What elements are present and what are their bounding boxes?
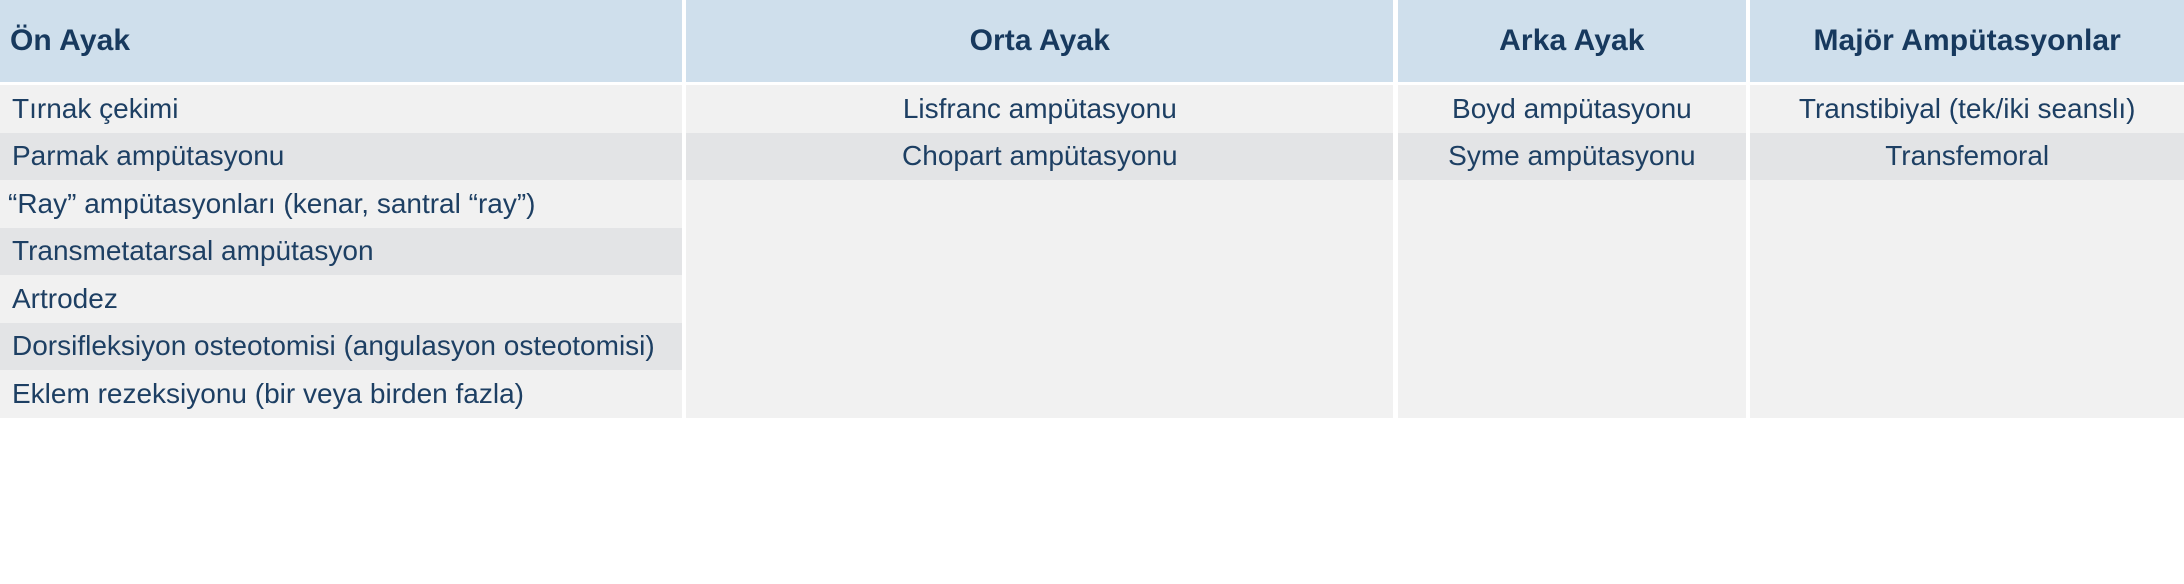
cell-orta-ayak: Chopart ampütasyonu [686,133,1393,181]
cell-major [1750,370,2184,418]
cell-orta-ayak [686,228,1393,276]
diabetic-foot-procedures-table-container: Ön Ayak Orta Ayak Arka Ayak Majör Ampüta… [0,0,2184,584]
cell-arka-ayak [1398,180,1746,228]
cell-major [1750,180,2184,228]
cell-arka-ayak [1398,370,1746,418]
cell-arka-ayak [1398,228,1746,276]
cell-major [1750,228,2184,276]
cell-major [1750,323,2184,371]
table-row: Artrodez [0,275,2184,323]
cell-major: Transtibiyal (tek/iki seanslı) [1750,82,2184,133]
cell-arka-ayak [1398,323,1746,371]
cell-arka-ayak: Boyd ampütasyonu [1398,82,1746,133]
cell-on-ayak: Artrodez [0,275,682,323]
column-header-major-amputasyonlar: Majör Ampütasyonlar [1750,0,2184,82]
cell-on-ayak: Dorsifleksiyon osteotomisi (angulasyon o… [0,323,682,371]
cell-on-ayak: Eklem rezeksiyonu (bir veya birden fazla… [0,370,682,418]
table-header: Ön Ayak Orta Ayak Arka Ayak Majör Ampüta… [0,0,2184,82]
table-header-row: Ön Ayak Orta Ayak Arka Ayak Majör Ampüta… [0,0,2184,82]
column-header-orta-ayak: Orta Ayak [686,0,1393,82]
table-row: Transmetatarsal ampütasyon [0,228,2184,276]
diabetic-foot-procedures-table: Ön Ayak Orta Ayak Arka Ayak Majör Ampüta… [0,0,2184,418]
cell-orta-ayak [686,275,1393,323]
cell-on-ayak: Transmetatarsal ampütasyon [0,228,682,276]
cell-orta-ayak [686,370,1393,418]
column-header-arka-ayak: Arka Ayak [1398,0,1746,82]
cell-on-ayak: Tırnak çekimi [0,82,682,133]
cell-major: Transfemoral [1750,133,2184,181]
cell-arka-ayak: Syme ampütasyonu [1398,133,1746,181]
cell-arka-ayak [1398,275,1746,323]
cell-major [1750,275,2184,323]
table-row: Parmak ampütasyonu Chopart ampütasyonu S… [0,133,2184,181]
table-row: Tırnak çekimi Lisfranc ampütasyonu Boyd … [0,82,2184,133]
cell-on-ayak: Parmak ampütasyonu [0,133,682,181]
cell-on-ayak: “Ray” ampütasyonları (kenar, santral “ra… [0,180,682,228]
column-header-on-ayak: Ön Ayak [0,0,682,82]
cell-orta-ayak: Lisfranc ampütasyonu [686,82,1393,133]
table-row: Eklem rezeksiyonu (bir veya birden fazla… [0,370,2184,418]
table-body: Tırnak çekimi Lisfranc ampütasyonu Boyd … [0,82,2184,418]
cell-orta-ayak [686,323,1393,371]
cell-orta-ayak [686,180,1393,228]
table-row: Dorsifleksiyon osteotomisi (angulasyon o… [0,323,2184,371]
table-row: “Ray” ampütasyonları (kenar, santral “ra… [0,180,2184,228]
